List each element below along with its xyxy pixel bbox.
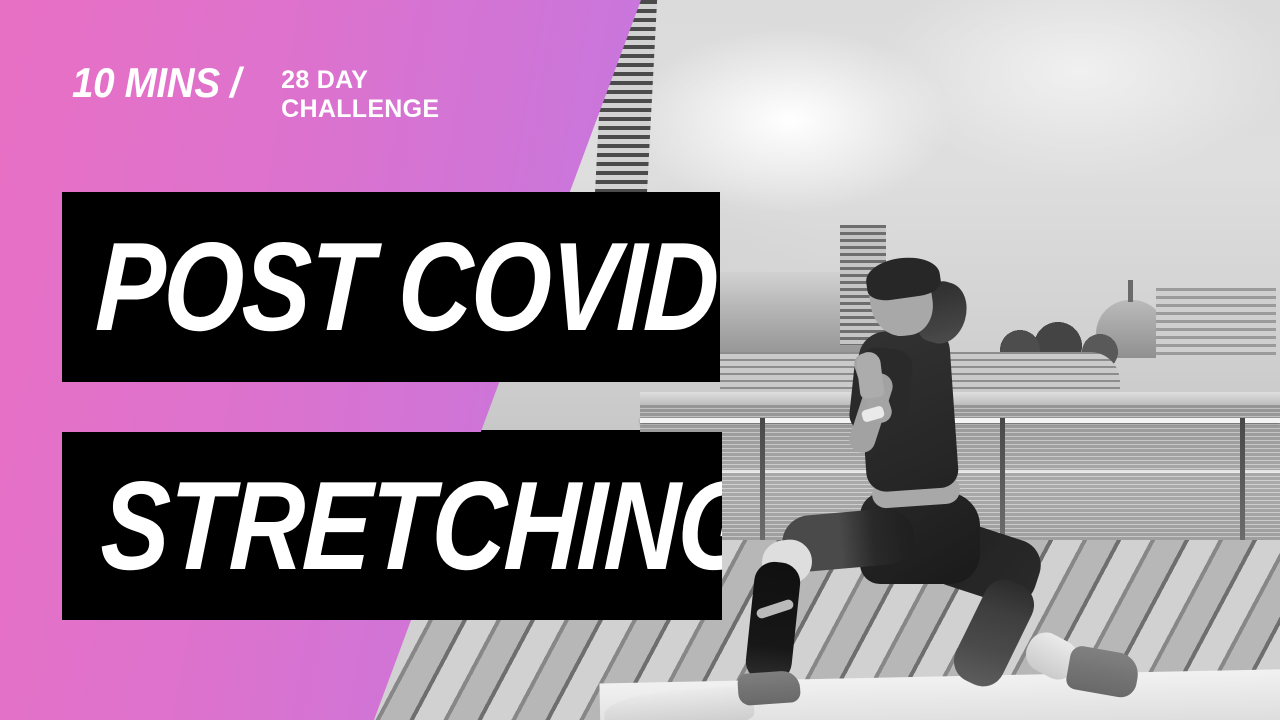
kicker-block: 10 MINS / 28 DAY CHALLENGE	[72, 62, 439, 124]
title-bar-line1: POST COVID	[62, 192, 720, 382]
title-line1: POST COVID	[62, 224, 720, 350]
title-line2: STRETCHING	[62, 463, 722, 589]
railing-mid-bar	[640, 470, 1280, 473]
thumbnail-canvas: 10 MINS / 28 DAY CHALLENGE POST COVID ST…	[0, 0, 1280, 720]
title-bar-line2: STRETCHING	[62, 432, 722, 620]
railing-post	[760, 418, 765, 548]
program-label: 28 DAY CHALLENGE	[281, 62, 439, 124]
skyline-block-building	[1156, 288, 1276, 360]
railing-post	[1240, 418, 1245, 548]
duration-label: 10 MINS /	[72, 62, 240, 104]
front-foot	[737, 670, 801, 706]
railing-post	[1000, 418, 1005, 548]
railing-top-bar	[640, 418, 1280, 423]
